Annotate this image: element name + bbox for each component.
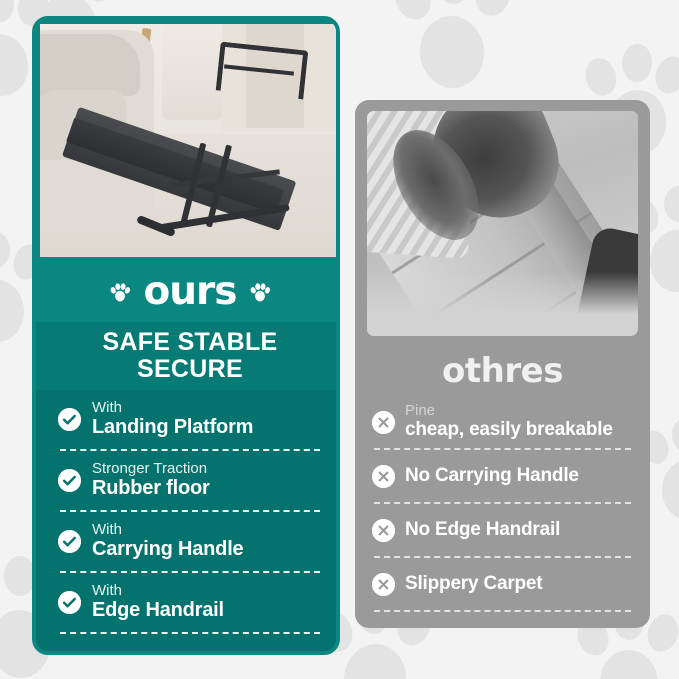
list-item: Stronger Traction Rubber floor (58, 451, 322, 510)
x-circle-icon (372, 465, 395, 488)
feature-title: Slippery Carpet (405, 573, 542, 595)
paw-print-icon (249, 281, 271, 303)
paw-print-icon (398, 0, 538, 110)
x-circle-icon (372, 573, 395, 596)
list-item: With Landing Platform (58, 390, 322, 449)
check-circle-icon (58, 530, 81, 553)
others-panel: othres Pine cheap, easily breakable No C… (355, 100, 650, 628)
list-item: With Edge Handrail (58, 573, 322, 632)
ours-feature-list: With Landing Platform Stronger Traction … (36, 390, 340, 655)
tagline-line-2: SECURE (137, 355, 243, 383)
ours-tagline: SAFE STABLE SECURE (102, 329, 277, 383)
paw-print-icon (109, 281, 131, 303)
x-circle-icon (372, 519, 395, 542)
ours-brand-band: ours (36, 261, 340, 322)
feature-title: No Edge Handrail (405, 519, 560, 541)
feature-title: Rubber floor (92, 477, 210, 500)
feature-title: Edge Handrail (92, 599, 224, 622)
paw-print-icon (650, 420, 679, 540)
others-product-photo (367, 111, 638, 336)
feature-subtitle: Pine (405, 403, 613, 420)
ours-product-photo (40, 24, 340, 257)
check-circle-icon (58, 469, 81, 492)
others-feature-list: Pine cheap, easily breakable No Carrying… (355, 396, 650, 622)
check-circle-icon (58, 591, 81, 614)
ours-tagline-band: SAFE STABLE SECURE (36, 322, 340, 390)
list-item: Slippery Carpet (372, 558, 633, 610)
others-brand-band: othres (355, 343, 650, 398)
list-item: Pine cheap, easily breakable (372, 396, 633, 448)
ours-panel: ours SAFE STABLE SECURE With (32, 16, 340, 655)
feature-title: cheap, easily breakable (405, 419, 613, 441)
check-circle-icon (58, 408, 81, 431)
list-item: No Edge Handrail (372, 504, 633, 556)
divider (60, 632, 320, 634)
list-item: With Carrying Handle (58, 512, 322, 571)
feature-title: No Carrying Handle (405, 465, 579, 487)
feature-title: Carrying Handle (92, 538, 243, 561)
feature-subtitle: With (92, 400, 253, 417)
ours-brand-label: ours (143, 272, 236, 311)
feature-subtitle: With (92, 522, 243, 539)
comparison-infographic: ours SAFE STABLE SECURE With (0, 0, 679, 679)
divider (374, 610, 631, 612)
feature-subtitle: Stronger Traction (92, 461, 210, 478)
x-circle-icon (372, 411, 395, 434)
tagline-line-1: SAFE STABLE (102, 328, 277, 356)
feature-title: Landing Platform (92, 416, 253, 439)
feature-subtitle: With (92, 583, 224, 600)
others-brand-label: othres (442, 354, 563, 388)
list-item: No Carrying Handle (372, 450, 633, 502)
